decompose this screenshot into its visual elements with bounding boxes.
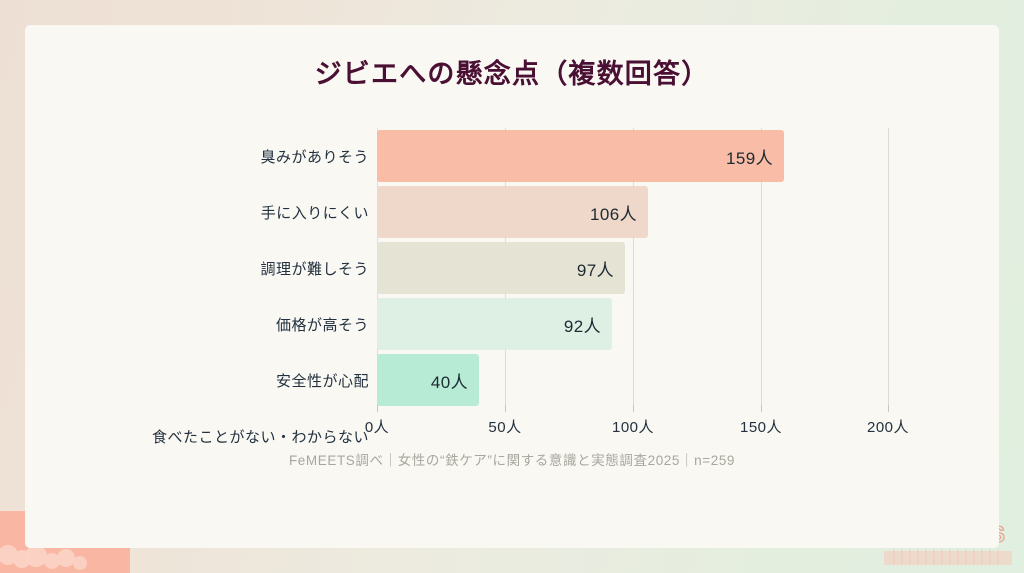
bar-value-label: 92人 (377, 298, 601, 350)
bars-and-grid: 159人 106人 97人 92人 40人 0人 (377, 128, 889, 405)
x-tick-label: 0人 (365, 416, 389, 437)
x-tick-label: 100人 (612, 416, 654, 437)
bar-value-label: 159人 (377, 130, 773, 182)
category-label: 調理が難しそう (260, 240, 369, 296)
category-axis-labels: 臭みがありそう 手に入りにくい 調理が難しそう 価格が高そう 安全性が心配 食べ… (25, 128, 369, 405)
source-note: FeMEETS調べ｜女性の“鉄ケア”に関する意識と実態調査2025｜n=259 (25, 449, 999, 469)
tick-150 (761, 405, 762, 412)
category-label: 臭みがありそう (260, 128, 369, 184)
tick-0 (377, 405, 378, 412)
chart-card: ジビエへの懸念点（複数回答） 臭みがありそう 手に入りにくい 調理が難しそう 価… (25, 25, 999, 548)
tick-100 (633, 405, 634, 412)
gridline-200 (888, 128, 889, 405)
x-tick-label: 150人 (740, 416, 782, 437)
x-tick-label: 50人 (488, 416, 521, 437)
category-label: 手に入りにくい (261, 184, 369, 240)
bar-value-label: 106人 (377, 186, 637, 238)
category-label: 安全性が心配 (276, 352, 369, 408)
tick-50 (505, 405, 506, 412)
x-tick-label: 200人 (867, 416, 909, 437)
bar-value-label: 40人 (377, 354, 468, 406)
tick-200 (888, 405, 889, 412)
bar-value-label: 97人 (377, 242, 614, 294)
category-label: 価格が高そう (276, 296, 369, 352)
plot-area: 臭みがありそう 手に入りにくい 調理が難しそう 価格が高そう 安全性が心配 食べ… (25, 128, 999, 498)
chart-title: ジビエへの懸念点（複数回答） (25, 52, 999, 91)
